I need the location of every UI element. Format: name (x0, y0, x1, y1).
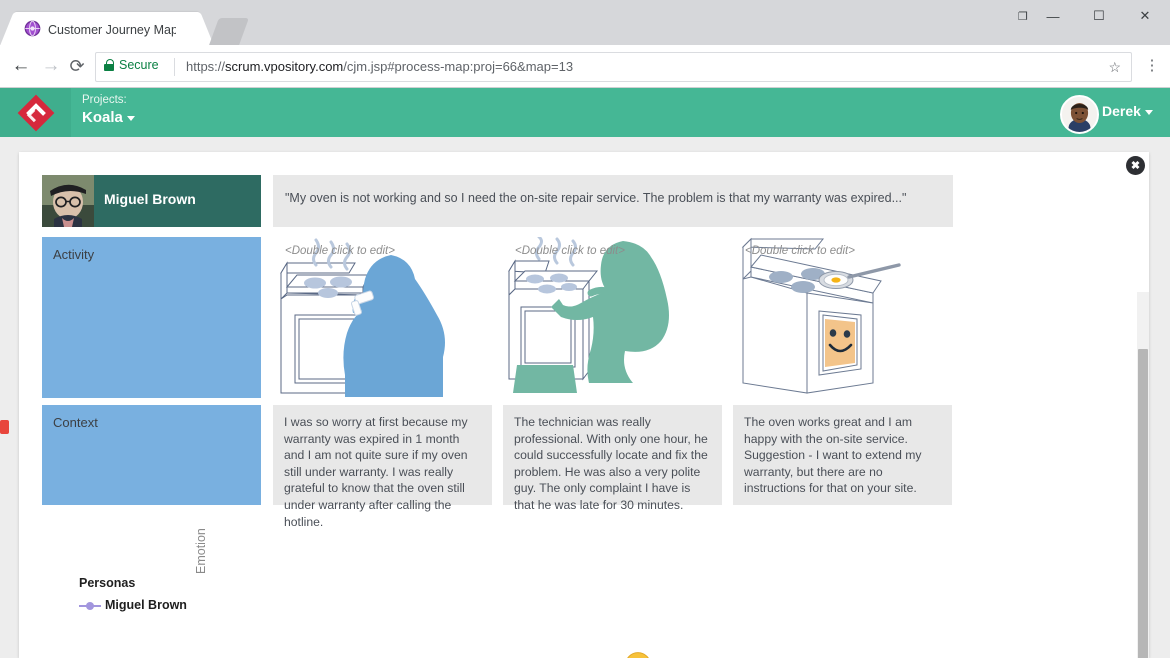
chart-plot-area (290, 514, 1000, 658)
activity-cell-2[interactable]: <Double click to edit> (503, 237, 722, 398)
vertical-scrollbar-thumb[interactable] (1138, 349, 1148, 658)
chevron-down-icon (127, 116, 135, 121)
row-label-context[interactable]: Context (42, 405, 261, 505)
context-cell-2[interactable]: The technician was really professional. … (503, 405, 722, 505)
app-logo[interactable] (0, 88, 71, 137)
new-tab-button[interactable] (209, 18, 249, 45)
happy-oven-with-pan-illustration (733, 237, 952, 398)
persona-photo (42, 175, 94, 227)
legend-swatch-icon (79, 602, 101, 610)
customer-journey-map: Miguel Brown "My oven is not working and… (19, 152, 1149, 658)
grinning-face-emoji[interactable] (625, 652, 651, 658)
lock-icon (104, 59, 114, 71)
address-bar[interactable]: Secure https://scrum.vpository.com/cjm.j… (95, 52, 1132, 82)
projects-label: Projects: (82, 94, 127, 106)
close-icon[interactable]: ✖ (1126, 156, 1145, 175)
context-text: The technician was really professional. … (514, 414, 711, 514)
chevron-down-icon (1145, 110, 1153, 115)
row-label-context-text: Context (53, 415, 98, 430)
project-name: Koala (82, 109, 123, 126)
url-path: /cjm.jsp#process-map:proj=66&map=13 (343, 59, 573, 74)
avatar[interactable] (1060, 95, 1099, 134)
journey-map-sheet: Miguel Brown "My oven is not working and… (19, 152, 1149, 658)
window-minimize-button[interactable]: — (1030, 0, 1076, 32)
window-controls: ❐ — ☐ ✕ (1000, 0, 1170, 32)
chart-y-axis-title: Emotion (194, 528, 208, 574)
browser-window: Customer Journey Mapp × ❐ — ☐ ✕ ← → ⟳ Se… (0, 0, 1170, 658)
chart-legend-title: Personas (79, 576, 135, 590)
browser-menu-icon[interactable]: ⋮ (1143, 55, 1161, 77)
secure-label: Secure (119, 58, 159, 72)
activity-edit-hint: <Double click to edit> (745, 245, 855, 257)
tab-close-icon[interactable]: × (190, 20, 207, 37)
persona-name: Miguel Brown (104, 191, 196, 207)
persona-header-cell[interactable]: Miguel Brown (42, 175, 261, 227)
context-text: I was so worry at first because my warra… (284, 414, 481, 530)
url-host: scrum.vpository.com (225, 59, 343, 74)
url-prefix: https:// (186, 59, 225, 74)
row-label-activity[interactable]: Activity (42, 237, 261, 398)
technician-repairing-oven-illustration (503, 237, 722, 398)
activity-cell-1[interactable]: <Double click to edit> (273, 237, 492, 398)
chart-legend-item[interactable]: Miguel Brown (79, 598, 187, 612)
url-text: https://scrum.vpository.com/cjm.jsp#proc… (186, 58, 573, 76)
user-menu[interactable]: Derek (1102, 103, 1153, 119)
emotion-line-series (290, 514, 1000, 658)
context-cell-1[interactable]: I was so worry at first because my warra… (273, 405, 492, 505)
window-close-button[interactable]: ✕ (1122, 0, 1168, 32)
emotion-chart: Personas Miguel Brown Emotion Excited Ha… (42, 514, 1127, 658)
persona-quote: "My oven is not working and so I need th… (285, 190, 941, 207)
activity-edit-hint: <Double click to edit> (285, 245, 395, 257)
editor-canvas: Miguel Brown "My oven is not working and… (0, 137, 1170, 658)
back-icon[interactable]: ← (10, 55, 32, 77)
globe-icon (24, 20, 41, 37)
context-text: The oven works great and I am happy with… (744, 414, 941, 497)
forward-icon[interactable]: → (40, 55, 62, 77)
legend-series-name: Miguel Brown (105, 598, 187, 612)
person-at-stove-phone-illustration (273, 237, 492, 398)
left-edge-marker (0, 420, 9, 434)
project-selector[interactable]: Koala (82, 109, 135, 126)
window-maximize-button[interactable]: ☐ (1076, 0, 1122, 32)
browser-tab-title: Customer Journey Mapp (48, 21, 176, 39)
context-cell-3[interactable]: The oven works great and I am happy with… (733, 405, 952, 505)
reload-icon[interactable]: ⟳ (66, 55, 88, 77)
diamond-logo-icon (17, 94, 55, 132)
bookmark-star-icon[interactable]: ☆ (1108, 58, 1121, 76)
browser-tabstrip: Customer Journey Mapp × ❐ — ☐ ✕ (0, 0, 1170, 45)
activity-edit-hint: <Double click to edit> (515, 245, 625, 257)
security-indicator[interactable]: Secure (104, 58, 159, 72)
persona-quote-cell[interactable]: "My oven is not working and so I need th… (273, 175, 953, 227)
browser-toolbar: ← → ⟳ Secure https://scrum.vpository.com… (0, 45, 1170, 88)
row-label-activity-text: Activity (53, 247, 94, 262)
omnibox-divider (174, 58, 175, 76)
app-header: Projects: Koala Derek (0, 88, 1170, 137)
browser-tab[interactable]: Customer Journey Mapp × (14, 12, 200, 45)
activity-cell-3[interactable]: <Double click to edit> (733, 237, 952, 398)
user-name-label: Derek (1102, 103, 1141, 119)
